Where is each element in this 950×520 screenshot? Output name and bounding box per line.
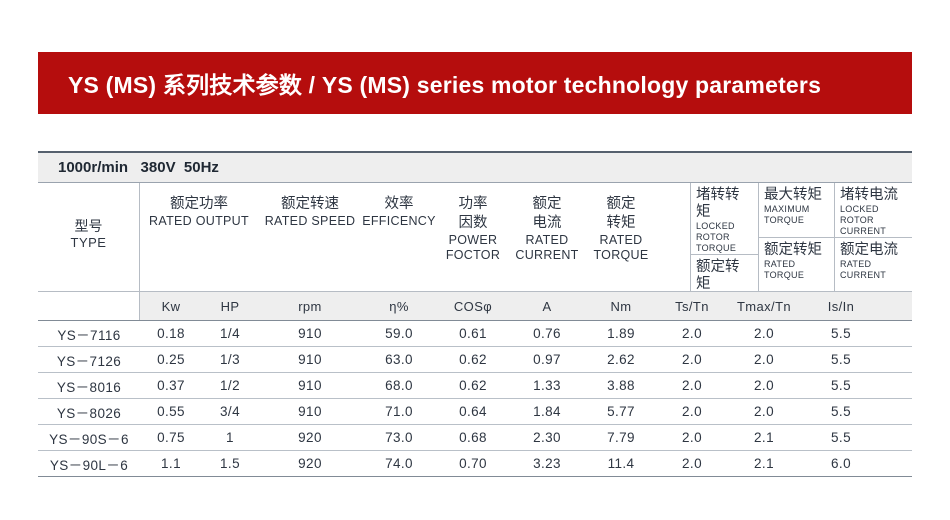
cell-tmax-tn: 2.0 xyxy=(726,373,802,398)
cell-nm: 5.77 xyxy=(584,399,658,424)
header-group-en: RATED CURRENT xyxy=(515,233,578,263)
unit-ts-tn: Ts/Tn xyxy=(658,292,726,320)
cell-ts-tn: 2.0 xyxy=(658,425,726,450)
cell-amps: 0.76 xyxy=(510,321,584,346)
cell-eff: 71.0 xyxy=(362,399,436,424)
header-ratio-en: LOCKED ROTOR CURRENT xyxy=(840,204,907,237)
cell-ts-tn: 2.0 xyxy=(658,451,726,476)
cell-hp: 1/4 xyxy=(202,321,258,346)
spec-bar: 1000r/min 380V 50Hz xyxy=(38,151,912,183)
cell-hp: 1 xyxy=(202,425,258,450)
table-units-row: Kw HP rpm η% COSφ A Nm Ts/Tn Tmax/Tn Is/… xyxy=(38,291,912,320)
cell-nm: 1.89 xyxy=(584,321,658,346)
page-root: YS (MS) 系列技术参数 / YS (MS) series motor te… xyxy=(0,0,950,520)
cell-hp: 1/3 xyxy=(202,347,258,372)
cell-ts-tn: 2.0 xyxy=(658,399,726,424)
header-ratio-en: RATED CURRENT xyxy=(840,259,907,281)
header-group-cn: 功率 因数 xyxy=(459,195,488,233)
cell-kw: 0.55 xyxy=(140,399,202,424)
cell-hp: 3/4 xyxy=(202,399,258,424)
header-group-power-factor: 功率 因数 POWER FOCTOR xyxy=(436,183,510,291)
header-group-en: POWER FOCTOR xyxy=(446,233,500,263)
cell-ts-tn: 2.0 xyxy=(658,347,726,372)
cell-eff: 59.0 xyxy=(362,321,436,346)
units-type-spacer xyxy=(38,292,140,320)
header-ratio-groups: 堵转转矩 LOCKED ROTOR TORQUE 额定转矩 RATED TORQ… xyxy=(690,183,912,291)
header-group-rated-speed: 额定转速 RATED SPEED xyxy=(258,183,362,291)
cell-cos: 0.62 xyxy=(436,373,510,398)
header-group-efficiency: 效率 EFFICENCY xyxy=(362,183,436,291)
header-ratio-cn: 堵转电流 xyxy=(840,187,907,204)
header-ratio-cn: 堵转转矩 xyxy=(696,187,753,221)
header-group-en: RATED TORQUE xyxy=(593,233,648,263)
cell-is-in: 5.5 xyxy=(802,321,880,346)
cell-tmax-tn: 2.0 xyxy=(726,347,802,372)
header-ratio-cn: 额定电流 xyxy=(840,242,907,259)
cell-tmax-tn: 2.1 xyxy=(726,425,802,450)
unit-cos: COSφ xyxy=(436,292,510,320)
cell-is-in: 5.5 xyxy=(802,425,880,450)
header-group-en: EFFICENCY xyxy=(362,214,436,229)
cell-is-in: 5.5 xyxy=(802,347,880,372)
header-type-en: TYPE xyxy=(71,235,107,251)
units-cells: Kw HP rpm η% COSφ A Nm Ts/Tn Tmax/Tn Is/… xyxy=(140,292,912,320)
cell-kw: 0.25 xyxy=(140,347,202,372)
cell-rpm: 910 xyxy=(258,321,362,346)
cell-amps: 3.23 xyxy=(510,451,584,476)
unit-tmax-tn: Tmax/Tn xyxy=(726,292,802,320)
header-ratio-locked-rotor-current: 堵转电流 LOCKED ROTOR CURRENT 额定电流 RATED CUR… xyxy=(834,183,912,291)
cell-nm: 3.88 xyxy=(584,373,658,398)
unit-eff: η% xyxy=(362,292,436,320)
cell-cos: 0.61 xyxy=(436,321,510,346)
cell-nm: 2.62 xyxy=(584,347,658,372)
header-group-en: RATED SPEED xyxy=(265,214,356,229)
table-body: YS－7116 0.18 1/4 910 59.0 0.61 0.76 1.89… xyxy=(38,320,912,477)
cell-nm: 11.4 xyxy=(584,451,658,476)
header-ratio-en: RATED TORQUE xyxy=(764,259,829,281)
cell-nm: 7.79 xyxy=(584,425,658,450)
header-ratio-maximum-torque: 最大转矩 MAXIMUM TORQUE 额定转矩 RATED TORQUE xyxy=(758,183,834,291)
header-group-cn: 额定功率 xyxy=(170,195,228,214)
cell-amps: 2.30 xyxy=(510,425,584,450)
table-header: 型号 TYPE 额定功率 RATED OUTPUT 额定转速 RATED SPE… xyxy=(38,183,912,291)
table-row: YS－90S－6 0.75 1 920 73.0 0.68 2.30 7.79 … xyxy=(38,425,912,451)
cell-cos: 0.68 xyxy=(436,425,510,450)
header-group-en: RATED OUTPUT xyxy=(149,214,249,229)
unit-rpm: rpm xyxy=(258,292,362,320)
cell-rpm: 920 xyxy=(258,451,362,476)
table-row: YS－7116 0.18 1/4 910 59.0 0.61 0.76 1.89… xyxy=(38,321,912,347)
table-row: YS－90L－6 1.1 1.5 920 74.0 0.70 3.23 11.4… xyxy=(38,451,912,477)
cell-eff: 68.0 xyxy=(362,373,436,398)
cell-amps: 0.97 xyxy=(510,347,584,372)
cell-ts-tn: 2.0 xyxy=(658,373,726,398)
cell-eff: 63.0 xyxy=(362,347,436,372)
cell-type: YS－90S－6 xyxy=(38,425,140,450)
cell-eff: 73.0 xyxy=(362,425,436,450)
header-group-cn: 效率 xyxy=(385,195,414,214)
header-groups: 额定功率 RATED OUTPUT 额定转速 RATED SPEED 效率 EF… xyxy=(140,183,690,291)
cell-rpm: 910 xyxy=(258,399,362,424)
header-group-cn: 额定 转矩 xyxy=(607,195,636,233)
header-type-column: 型号 TYPE xyxy=(38,183,140,291)
cell-is-in: 5.5 xyxy=(802,373,880,398)
spec-bar-text: 1000r/min 380V 50Hz xyxy=(38,159,219,176)
cell-hp: 1/2 xyxy=(202,373,258,398)
cell-kw: 0.75 xyxy=(140,425,202,450)
cell-hp: 1.5 xyxy=(202,451,258,476)
cell-eff: 74.0 xyxy=(362,451,436,476)
cell-kw: 0.37 xyxy=(140,373,202,398)
cell-kw: 1.1 xyxy=(140,451,202,476)
unit-is-in: Is/In xyxy=(802,292,880,320)
unit-amps: A xyxy=(510,292,584,320)
cell-is-in: 6.0 xyxy=(802,451,880,476)
header-group-cn: 额定转速 xyxy=(281,195,339,214)
unit-kw: Kw xyxy=(140,292,202,320)
cell-amps: 1.84 xyxy=(510,399,584,424)
cell-type: YS－7126 xyxy=(38,347,140,372)
table-row: YS－8026 0.55 3/4 910 71.0 0.64 1.84 5.77… xyxy=(38,399,912,425)
header-group-rated-torque: 额定 转矩 RATED TORQUE xyxy=(584,183,658,291)
table-row: YS－7126 0.25 1/3 910 63.0 0.62 0.97 2.62… xyxy=(38,347,912,373)
header-group-rated-output: 额定功率 RATED OUTPUT xyxy=(140,183,258,291)
cell-tmax-tn: 2.0 xyxy=(726,399,802,424)
header-ratio-cn: 额定转矩 xyxy=(696,259,753,293)
cell-type: YS－8026 xyxy=(38,399,140,424)
cell-is-in: 5.5 xyxy=(802,399,880,424)
unit-hp: HP xyxy=(202,292,258,320)
parameters-table: 1000r/min 380V 50Hz 型号 TYPE 额定功率 RATED O… xyxy=(38,151,912,477)
header-ratio-cn: 最大转矩 xyxy=(764,187,829,204)
header-ratio-en: LOCKED ROTOR TORQUE xyxy=(696,221,753,254)
cell-cos: 0.62 xyxy=(436,347,510,372)
cell-cos: 0.70 xyxy=(436,451,510,476)
cell-ts-tn: 2.0 xyxy=(658,321,726,346)
header-ratio-denominator: 额定电流 RATED CURRENT xyxy=(835,238,912,291)
header-ratio-numerator: 堵转电流 LOCKED ROTOR CURRENT xyxy=(835,183,912,238)
page-banner: YS (MS) 系列技术参数 / YS (MS) series motor te… xyxy=(38,52,912,114)
cell-amps: 1.33 xyxy=(510,373,584,398)
cell-kw: 0.18 xyxy=(140,321,202,346)
header-ratio-cn: 额定转矩 xyxy=(764,242,829,259)
cell-tmax-tn: 2.1 xyxy=(726,451,802,476)
table-row: YS－8016 0.37 1/2 910 68.0 0.62 1.33 3.88… xyxy=(38,373,912,399)
cell-type: YS－8016 xyxy=(38,373,140,398)
header-ratio-numerator: 堵转转矩 LOCKED ROTOR TORQUE xyxy=(691,183,758,255)
cell-cos: 0.64 xyxy=(436,399,510,424)
cell-rpm: 910 xyxy=(258,373,362,398)
header-type-cn: 型号 xyxy=(75,218,103,235)
cell-rpm: 910 xyxy=(258,347,362,372)
page-title: YS (MS) 系列技术参数 / YS (MS) series motor te… xyxy=(68,66,821,100)
header-ratio-locked-rotor-torque: 堵转转矩 LOCKED ROTOR TORQUE 额定转矩 RATED TORQ… xyxy=(690,183,758,291)
cell-type: YS－90L－6 xyxy=(38,451,140,476)
header-group-rated-current: 额定 电流 RATED CURRENT xyxy=(510,183,584,291)
header-ratio-en: MAXIMUM TORQUE xyxy=(764,204,829,226)
unit-nm: Nm xyxy=(584,292,658,320)
header-ratio-denominator: 额定转矩 RATED TORQUE xyxy=(759,238,834,292)
header-ratio-numerator: 最大转矩 MAXIMUM TORQUE xyxy=(759,183,834,238)
cell-tmax-tn: 2.0 xyxy=(726,321,802,346)
cell-rpm: 920 xyxy=(258,425,362,450)
header-group-cn: 额定 电流 xyxy=(533,195,562,233)
cell-type: YS－7116 xyxy=(38,321,140,346)
